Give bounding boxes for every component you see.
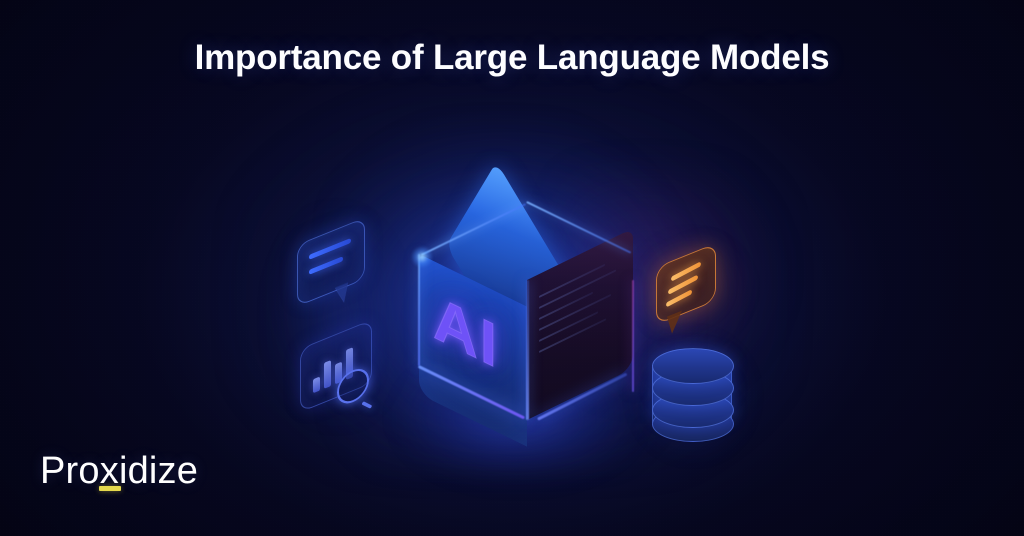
ai-cube: AI bbox=[393, 168, 629, 420]
logo-text-part1: Pro bbox=[40, 450, 100, 492]
page-title: Importance of Large Language Models bbox=[0, 38, 1024, 78]
database-icon bbox=[652, 348, 732, 440]
cube-edge bbox=[632, 280, 634, 392]
logo-text-part2: idize bbox=[119, 450, 198, 492]
brand-logo: Proxidize bbox=[40, 450, 198, 493]
logo-accent-letter: x bbox=[100, 450, 119, 493]
chart-bar bbox=[313, 376, 320, 393]
cube-corner-highlight bbox=[411, 246, 433, 268]
promo-banner: AI Importance of Large Language Models P… bbox=[0, 0, 1024, 536]
database-disc bbox=[652, 348, 734, 384]
cube-edge bbox=[526, 280, 529, 420]
chart-bar bbox=[324, 360, 331, 389]
cube-edge bbox=[418, 254, 420, 366]
